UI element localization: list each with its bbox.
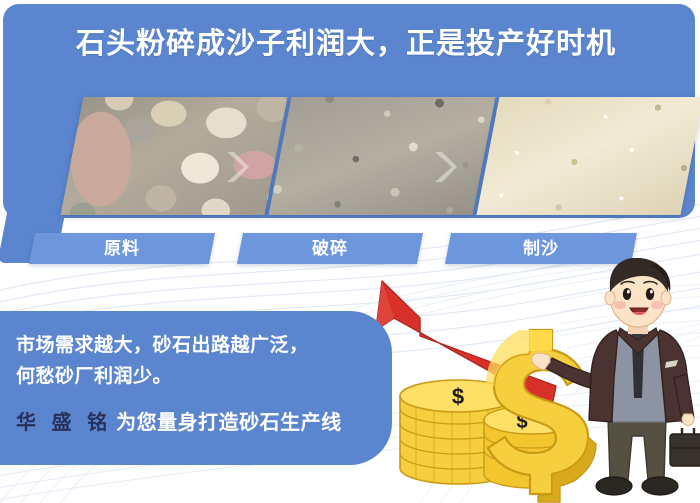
process-photo-sand-making (477, 97, 700, 215)
process-photo-crushing (269, 97, 496, 215)
promotional-banner: 石头粉碎成沙子利润大，正是投产好时机 原料 破碎 制沙 (0, 0, 700, 503)
briefcase-icon (670, 428, 700, 466)
manufactured-sand-photo (477, 97, 700, 215)
process-photo-raw-material (61, 97, 288, 215)
brand-tagline: 为您量身打造砂石生产线 (116, 412, 342, 434)
process-label-text: 原料 (32, 233, 212, 264)
process-label-raw-material: 原料 (29, 233, 215, 264)
brand-name: 华 盛 铭 (16, 412, 116, 434)
raw-stone-pebbles-photo (61, 97, 288, 215)
copy-panel: 市场需求越大，砂石出路越广泛， 何愁砂厂利润少。 华 盛 铭为您量身打造砂石生产… (0, 311, 392, 465)
chevron-right-icon (432, 150, 458, 184)
crushed-gravel-photo (269, 97, 496, 215)
page-title: 石头粉碎成沙子利润大，正是投产好时机 (0, 20, 692, 62)
copy-line-1: 市场需求越大，砂石出路越广泛， (16, 330, 309, 357)
chevron-right-icon (224, 150, 250, 184)
coin-dollar-symbol: $ (452, 384, 464, 409)
businessman-money-illustration: $ $ (360, 258, 700, 503)
copy-line-2: 何愁砂厂利润少。 (16, 361, 172, 388)
brand-tagline-line: 华 盛 铭为您量身打造砂石生产线 (16, 406, 342, 435)
